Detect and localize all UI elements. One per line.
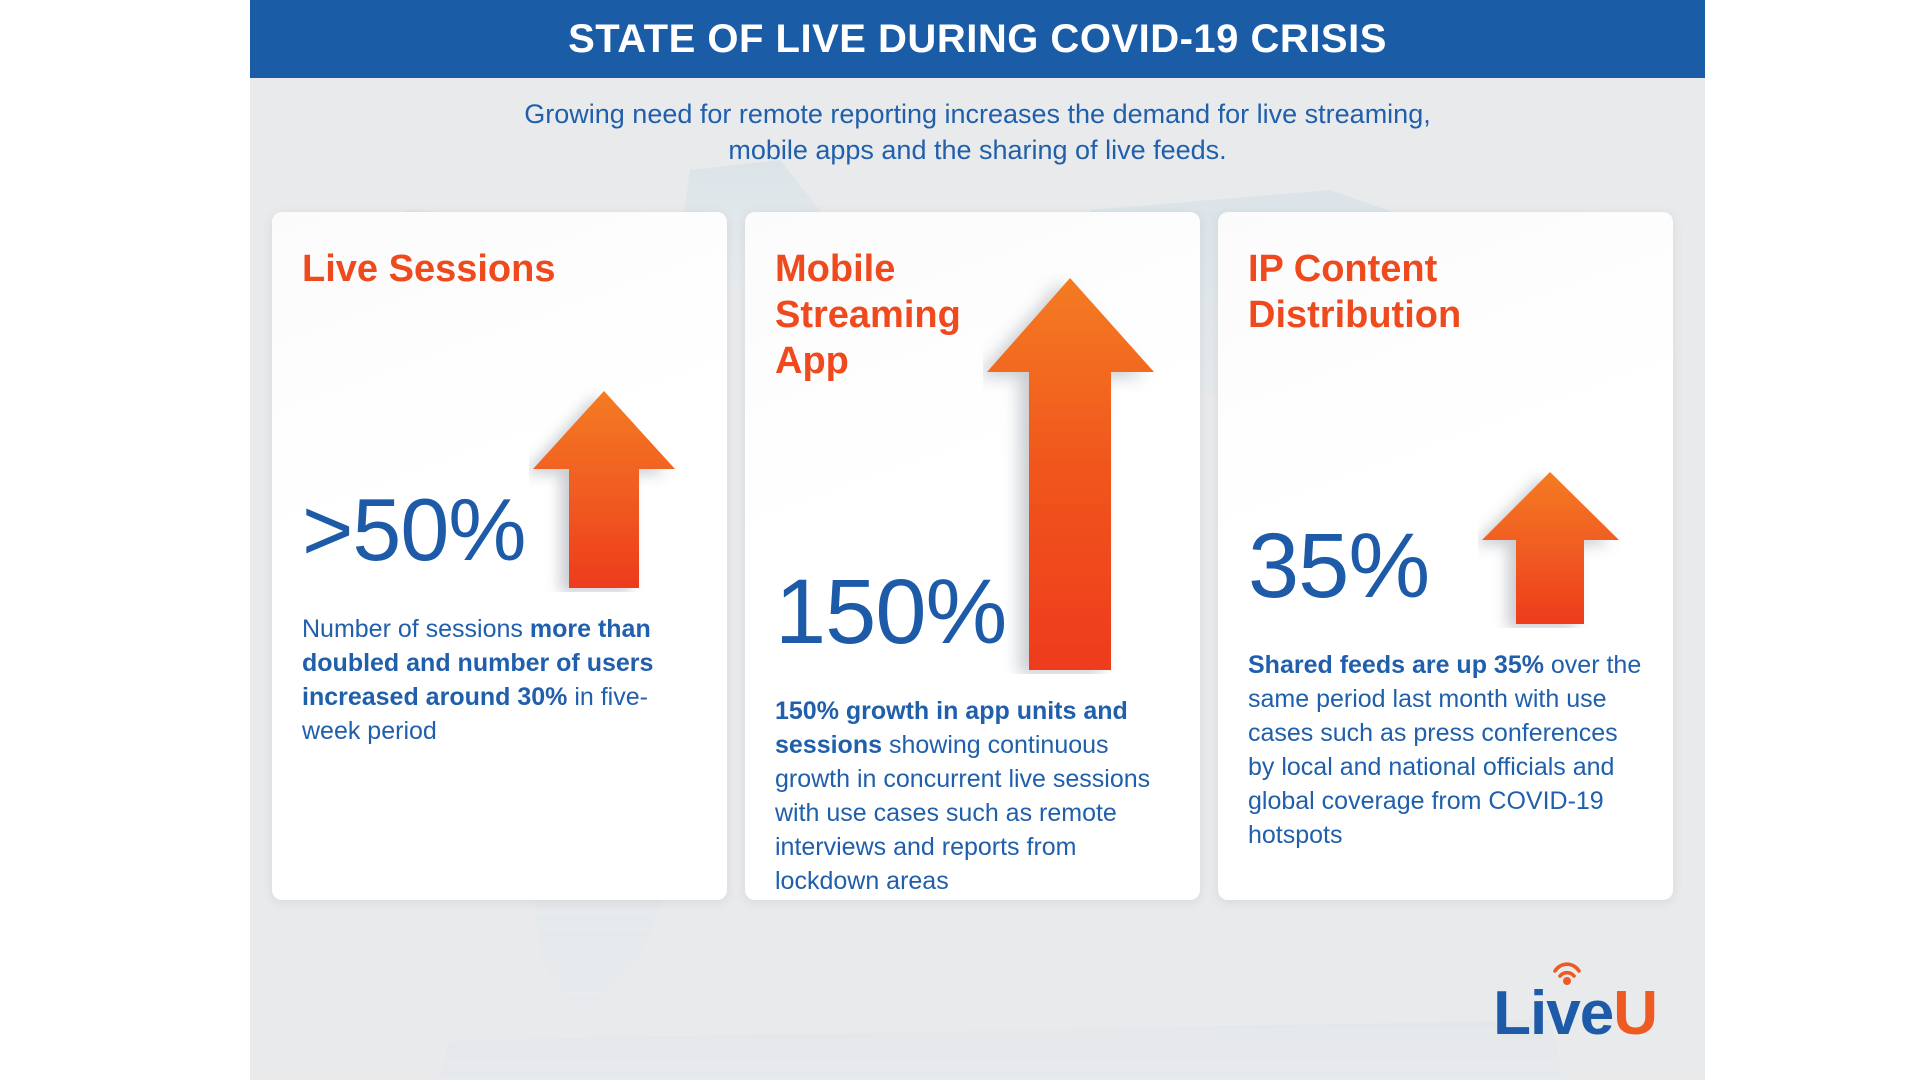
stat-value: 150% xyxy=(775,566,1006,658)
stat-row: 150% xyxy=(775,390,1170,680)
card-body-tail: over the same period last month with use… xyxy=(1248,651,1641,849)
card-heading: Mobile Streaming App xyxy=(775,246,1170,384)
logo-text-live: Live xyxy=(1493,979,1613,1048)
card-body: Number of sessions more than doubled and… xyxy=(302,612,697,748)
infographic-panel: STATE OF LIVE DURING COVID-19 CRISIS Gro… xyxy=(250,0,1705,1080)
stat-card-live-sessions: Live Sessions xyxy=(272,212,727,900)
header-bar: STATE OF LIVE DURING COVID-19 CRISIS xyxy=(250,0,1705,78)
card-body: 150% growth in app units and sessions sh… xyxy=(775,694,1170,898)
screenshot-canvas: STATE OF LIVE DURING COVID-19 CRISIS Gro… xyxy=(0,0,1920,1080)
card-heading: IP Content Distribution xyxy=(1248,246,1643,338)
up-arrow-icon xyxy=(529,387,679,592)
logo-text-u: U xyxy=(1613,979,1657,1048)
stat-row: >50% xyxy=(302,298,697,598)
stat-cards-row: Live Sessions xyxy=(272,212,1682,912)
subtitle-line-1: Growing need for remote reporting increa… xyxy=(250,96,1705,132)
stat-card-ip-content-distribution: IP Content Distribution xyxy=(1218,212,1673,900)
up-arrow-icon xyxy=(1478,468,1623,628)
card-body-emphasis: Shared feeds are up 35% xyxy=(1248,651,1551,679)
stat-value: 35% xyxy=(1248,520,1429,612)
wifi-signal-icon xyxy=(1545,957,1589,987)
page-title: STATE OF LIVE DURING COVID-19 CRISIS xyxy=(568,17,1387,62)
card-heading: Live Sessions xyxy=(302,246,697,292)
logo-wordmark: LiveU xyxy=(1493,983,1657,1045)
card-body-lead: Number of sessions xyxy=(302,615,530,643)
subtitle: Growing need for remote reporting increa… xyxy=(250,96,1705,168)
stat-value: >50% xyxy=(302,484,526,576)
stat-row: 35% xyxy=(1248,344,1643,634)
stat-card-mobile-streaming-app: Mobile Streaming App xyxy=(745,212,1200,900)
card-body: Shared feeds are up 35% over the same pe… xyxy=(1248,648,1643,852)
subtitle-line-2: mobile apps and the sharing of live feed… xyxy=(250,132,1705,168)
liveu-logo: LiveU xyxy=(1493,983,1657,1045)
